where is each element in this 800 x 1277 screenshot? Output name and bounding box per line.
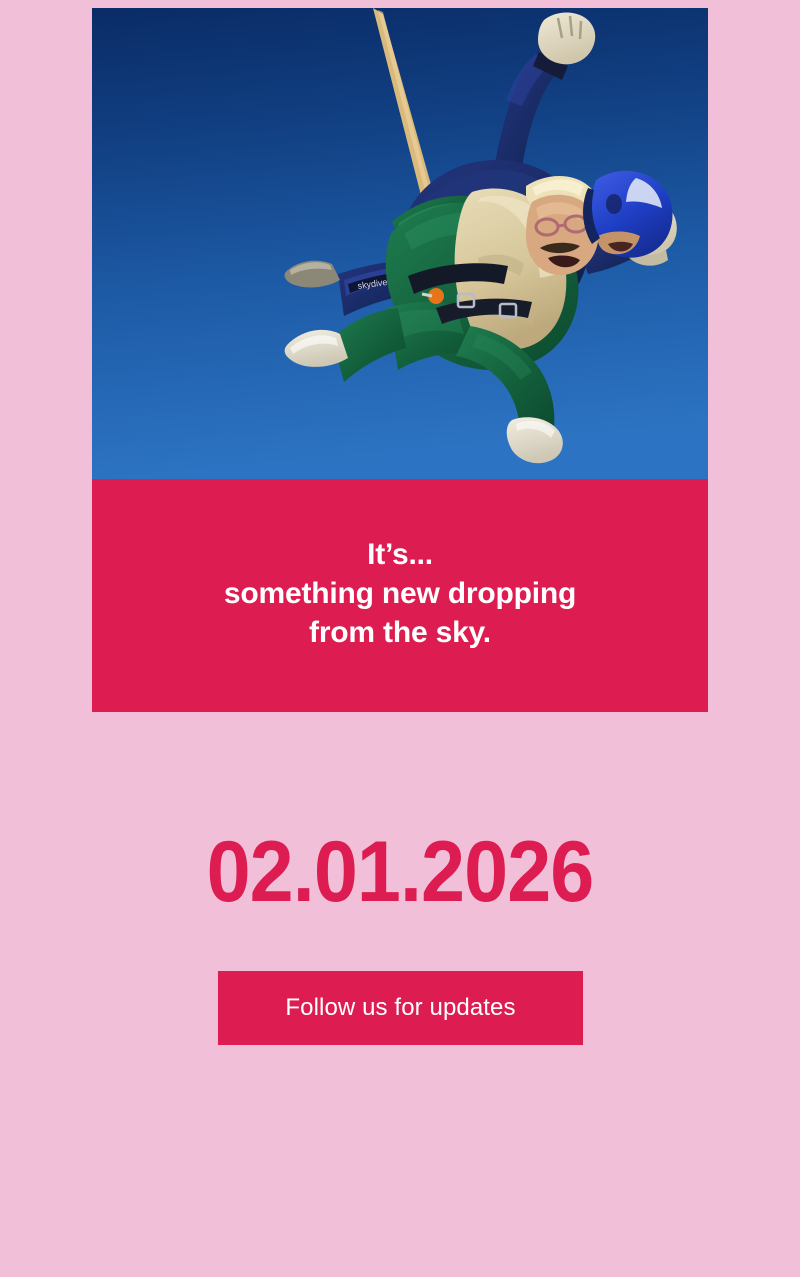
hero-card: skydive.com (92, 8, 708, 712)
teaser-page: skydive.com (0, 0, 800, 1277)
follow-us-button[interactable]: Follow us for updates (218, 971, 583, 1045)
hero-caption: It’s... something new dropping from the … (224, 535, 576, 656)
tandem-skydiver-photo: skydive.com (92, 8, 708, 479)
launch-date: 02.01.2026 (32, 829, 768, 915)
caption-panel: It’s... something new dropping from the … (92, 479, 708, 712)
